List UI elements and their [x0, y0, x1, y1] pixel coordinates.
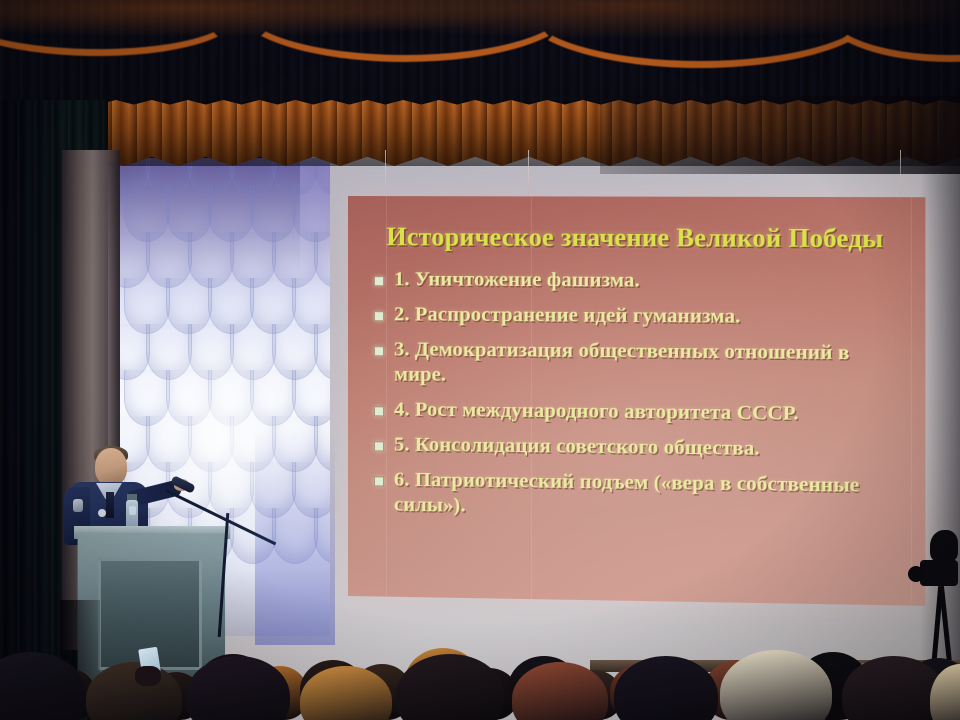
- video-camera-lens: [908, 566, 924, 582]
- bullet-square-icon: [374, 407, 384, 417]
- slide-bullet-text: 4. Рост международного авторитета СССР.: [394, 398, 799, 427]
- bullet-square-icon: [374, 311, 384, 321]
- bullet-square-icon: [374, 477, 384, 487]
- projected-slide: Историческое значение Великой Победы 1. …: [348, 196, 925, 606]
- slide-bullet-text: 3. Демократизация общественных отношений…: [394, 338, 903, 393]
- slide-bullet-item: 4. Рост международного авторитета СССР.: [374, 398, 903, 429]
- slide-bullet-item: 1. Уничтожение фашизма.: [374, 267, 903, 295]
- bullet-square-icon: [374, 276, 384, 286]
- bullet-square-icon: [374, 442, 384, 452]
- camera-operator-silhouette: [930, 530, 958, 562]
- screen-wire: [385, 150, 386, 200]
- slide-bullet-item: 6. Патриотический подъем («вера в собств…: [374, 468, 903, 526]
- audience-head: [0, 652, 86, 720]
- uniform-badge: [73, 499, 83, 512]
- uniform-badge: [98, 509, 106, 517]
- slide-bullet-item: 2. Распространение идей гуманизма.: [374, 302, 903, 331]
- auditorium-scene: Историческое значение Великой Победы 1. …: [0, 0, 960, 720]
- speaker-head: [95, 448, 127, 486]
- drape-scallop: [314, 508, 330, 564]
- screen-wire: [528, 150, 529, 198]
- drape-scallop: [272, 508, 318, 564]
- screen-wire: [900, 150, 901, 198]
- audience-hand: [135, 666, 161, 686]
- slide-bullet-item: 3. Демократизация общественных отношений…: [374, 337, 903, 392]
- drape-scallop: [230, 508, 276, 564]
- speaker-tie: [106, 492, 114, 518]
- bullet-square-icon: [374, 346, 384, 356]
- slide-bullet-text: 1. Уничтожение фашизма.: [394, 267, 640, 293]
- audience-head: [86, 662, 182, 720]
- slide-bullet-text: 2. Распространение идей гуманизма.: [394, 303, 741, 330]
- slide-bullet-text: 5. Консолидация советского общества.: [394, 433, 760, 462]
- slide-bullet-text: 6. Патриотический подъем («вера в собств…: [394, 468, 903, 525]
- slide-title: Историческое значение Великой Победы: [382, 220, 888, 255]
- video-camera-body: [920, 560, 958, 586]
- slide-bullet-item: 5. Консолидация советского общества.: [374, 433, 903, 464]
- slide-bullet-list: 1. Уничтожение фашизма.2. Распространени…: [374, 267, 903, 525]
- valance-shadow-right: [600, 96, 960, 174]
